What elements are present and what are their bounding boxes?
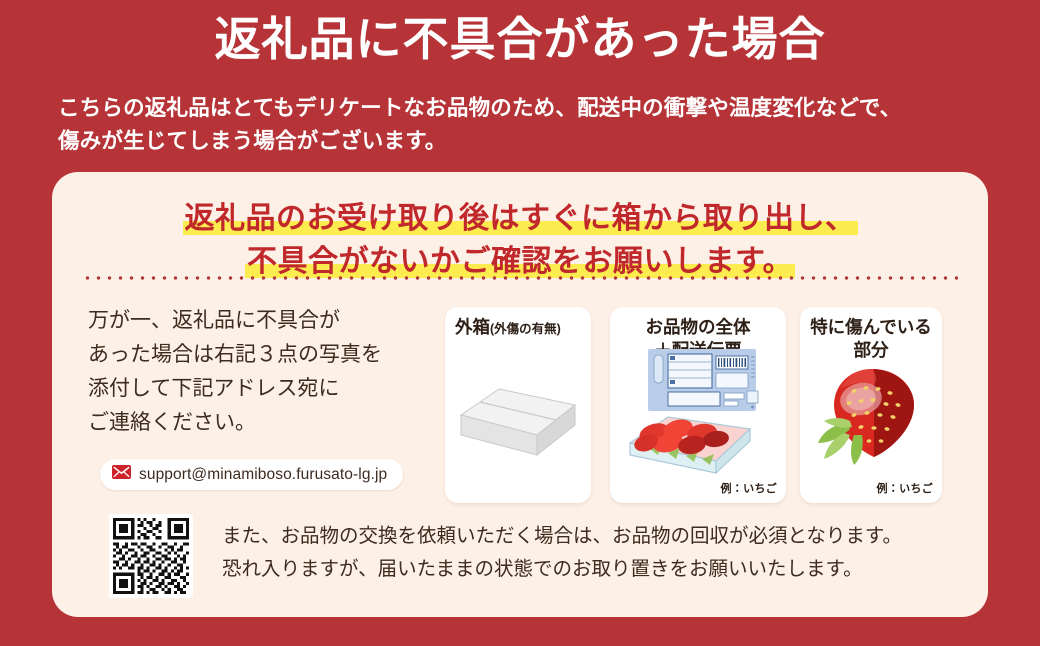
lead-message-line: 返礼品のお受け取り後はすぐに箱から取り出し、	[52, 198, 988, 241]
bruised-strawberry-illustration	[816, 355, 928, 472]
support-email-pill[interactable]: support@minamiboso.furusato-lg.jp	[100, 459, 403, 490]
bottom-note-line: 恐れ入りますが、届いたままの状態でのお取り置きをお願いいたします。	[222, 553, 962, 586]
photo-card-whole-item-and-waybill: お品物の全体 ＋配送伝票	[610, 307, 786, 503]
bottom-note: また、お品物の交換を依頼いただく場合は、お品物の回収が必須となります。 恐れ入り…	[222, 520, 962, 586]
envelope-icon	[112, 465, 131, 484]
dotted-divider	[82, 276, 958, 280]
instruction-line: ご連絡ください。	[88, 406, 478, 440]
content-panel: 返礼品のお受け取り後はすぐに箱から取り出し、 不具合がないかご確認をお願いします…	[52, 172, 988, 617]
instruction-line: 添付して下記アドレス宛に	[88, 372, 478, 406]
instruction-line: 万が一、返礼品に不具合が	[88, 304, 478, 338]
header-description-line: こちらの返礼品はとてもデリケートなお品物のため、配送中の衝撃や温度変化などで、	[58, 92, 998, 125]
bottom-note-line: また、お品物の交換を依頼いただく場合は、お品物の回収が必須となります。	[222, 520, 962, 553]
photo-card-title-main: お品物の全体	[646, 317, 751, 337]
photo-card-title: 外箱(外傷の有無)	[445, 316, 591, 339]
header-description-line: 傷みが生じてしまう場合がございます。	[58, 125, 998, 158]
photo-card-caption: 例：いちご	[877, 480, 934, 496]
shipping-label-and-strawberry-pack-illustration	[624, 343, 774, 488]
qr-code[interactable]	[109, 514, 193, 598]
photo-card-title-main: 特に傷んでいる	[810, 317, 932, 337]
instruction-text: 万が一、返礼品に不具合が あった場合は右記３点の写真を 添付して下記アドレス宛に…	[88, 304, 478, 440]
photo-card-damaged-part: 特に傷んでいる 部分	[800, 307, 942, 503]
photo-card-title-main: 外箱	[455, 317, 490, 337]
photo-card-title-note: (外傷の有無)	[490, 322, 561, 336]
header-description: こちらの返礼品はとてもデリケートなお品物のため、配送中の衝撃や温度変化などで、 …	[58, 92, 998, 159]
instruction-line: あった場合は右記３点の写真を	[88, 338, 478, 372]
page-title: 返礼品に不具合があった場合	[0, 12, 1040, 67]
cardboard-box-illustration	[457, 363, 579, 468]
support-email-address: support@minamiboso.furusato-lg.jp	[139, 466, 387, 484]
photo-card-outer-box: 外箱(外傷の有無)	[445, 307, 591, 503]
photo-card-caption: 例：いちご	[721, 480, 778, 496]
lead-message: 返礼品のお受け取り後はすぐに箱から取り出し、 不具合がないかご確認をお願いします…	[52, 198, 988, 283]
infographic-page: 返礼品に不具合があった場合 こちらの返礼品はとてもデリケートなお品物のため、配送…	[0, 0, 1040, 646]
